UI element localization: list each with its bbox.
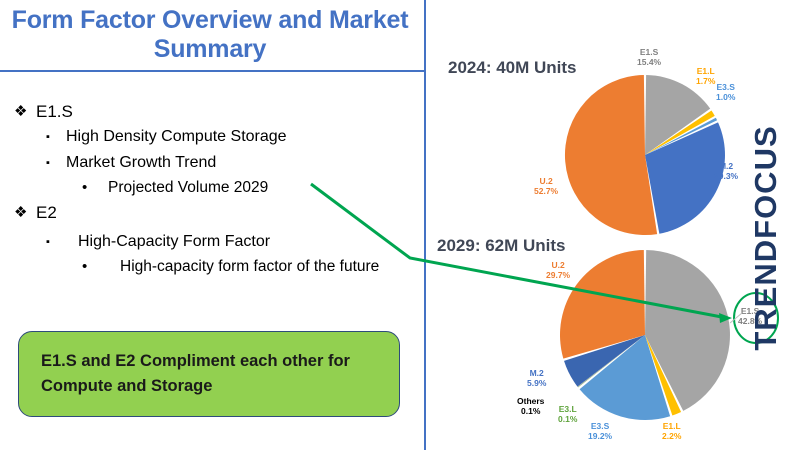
- list-item: ❖ E2: [14, 201, 414, 224]
- pie-2029-label-e3s: E3.S 19.2%: [588, 421, 612, 441]
- pie-2029-label-e3l: E3.L 0.1%: [558, 404, 577, 424]
- slice-value: 19.2%: [588, 431, 612, 441]
- pie-2024-label-e1l: E1.L 1.7%: [696, 66, 715, 86]
- slice-value: 29.7%: [546, 270, 570, 280]
- list-item: ▪ High-Capacity Form Factor: [14, 230, 414, 254]
- slice-name: E1.L: [663, 421, 681, 431]
- page-title-text: Form Factor Overview and Market Summary: [0, 6, 420, 64]
- list-item-label: High Density Compute Storage: [66, 125, 414, 149]
- list-item-label: Projected Volume 2029: [108, 176, 414, 199]
- slice-name: Others: [517, 396, 544, 406]
- pie-slice-u2: [565, 75, 657, 235]
- slice-value: 0.1%: [517, 406, 544, 416]
- list-item-label: High-capacity form factor of the future: [108, 255, 414, 278]
- diamond-bullet-icon: ❖: [14, 201, 36, 224]
- list-item: ❖ E1.S: [14, 100, 414, 123]
- pie-2024-label-e1s: E1.S 15.4%: [637, 47, 661, 67]
- slice-name: E1.L: [697, 66, 715, 76]
- brand-logo: TRENDFOCUS: [736, 50, 796, 410]
- slice-name: M.2: [530, 368, 544, 378]
- list-item-label: High-Capacity Form Factor: [66, 230, 414, 254]
- summary-callout-box: E1.S and E2 Compliment each other for Co…: [18, 331, 400, 417]
- spacer: [14, 224, 414, 228]
- square-bullet-icon: ▪: [46, 151, 66, 175]
- slice-value: 5.9%: [527, 378, 546, 388]
- pie-2029-label-others: Others 0.1%: [517, 396, 544, 416]
- pie-2029-label-e1l: E1.L 2.2%: [662, 421, 681, 441]
- slice-name: E3.L: [559, 404, 577, 414]
- slice-value: 52.7%: [534, 186, 558, 196]
- panel-divider: [424, 0, 426, 450]
- page-title: Form Factor Overview and Market Summary: [0, 2, 420, 68]
- slice-name: U.2: [551, 260, 564, 270]
- header-divider: [0, 70, 425, 72]
- slice-name: E1.S: [640, 47, 658, 57]
- slice-value: 0.1%: [558, 414, 577, 424]
- slice-name: U.2: [539, 176, 552, 186]
- list-item: • Projected Volume 2029: [14, 176, 414, 199]
- list-item: ▪ Market Growth Trend: [14, 151, 414, 175]
- slice-name: M.2: [719, 161, 733, 171]
- pie-2029-label-u2: U.2 29.7%: [546, 260, 570, 280]
- pie-2029-label-m2: M.2 5.9%: [527, 368, 546, 388]
- list-item: • High-capacity form factor of the futur…: [14, 255, 414, 278]
- bullet-list: ❖ E1.S ▪ High Density Compute Storage ▪ …: [14, 98, 414, 278]
- slice-value: 1.7%: [696, 76, 715, 86]
- dot-bullet-icon: •: [82, 255, 108, 278]
- list-item-label: Market Growth Trend: [66, 151, 414, 175]
- slice-name: E3.S: [716, 82, 734, 92]
- list-item: ▪ High Density Compute Storage: [14, 125, 414, 149]
- diamond-bullet-icon: ❖: [14, 100, 36, 123]
- slice-value: 1.0%: [716, 92, 735, 102]
- square-bullet-icon: ▪: [46, 125, 66, 149]
- slice-value: 29.3%: [714, 171, 738, 181]
- list-item-label: E1.S: [36, 100, 414, 123]
- pie-2024-label-e3s: E3.S 1.0%: [716, 82, 735, 102]
- list-item-label: E2: [36, 201, 414, 224]
- pie-2024-label-m2: M.2 29.3%: [714, 161, 738, 181]
- slice-value: 2.2%: [662, 431, 681, 441]
- square-bullet-icon: ▪: [46, 230, 66, 254]
- summary-callout-text: E1.S and E2 Compliment each other for Co…: [19, 349, 399, 399]
- dot-bullet-icon: •: [82, 176, 108, 199]
- slice-value: 15.4%: [637, 57, 661, 67]
- pie-2024-label-u2: U.2 52.7%: [534, 176, 558, 196]
- slide-canvas: Form Factor Overview and Market Summary …: [0, 0, 800, 450]
- brand-logo-text: TRENDFOCUS: [748, 58, 784, 418]
- slice-name: E3.S: [591, 421, 609, 431]
